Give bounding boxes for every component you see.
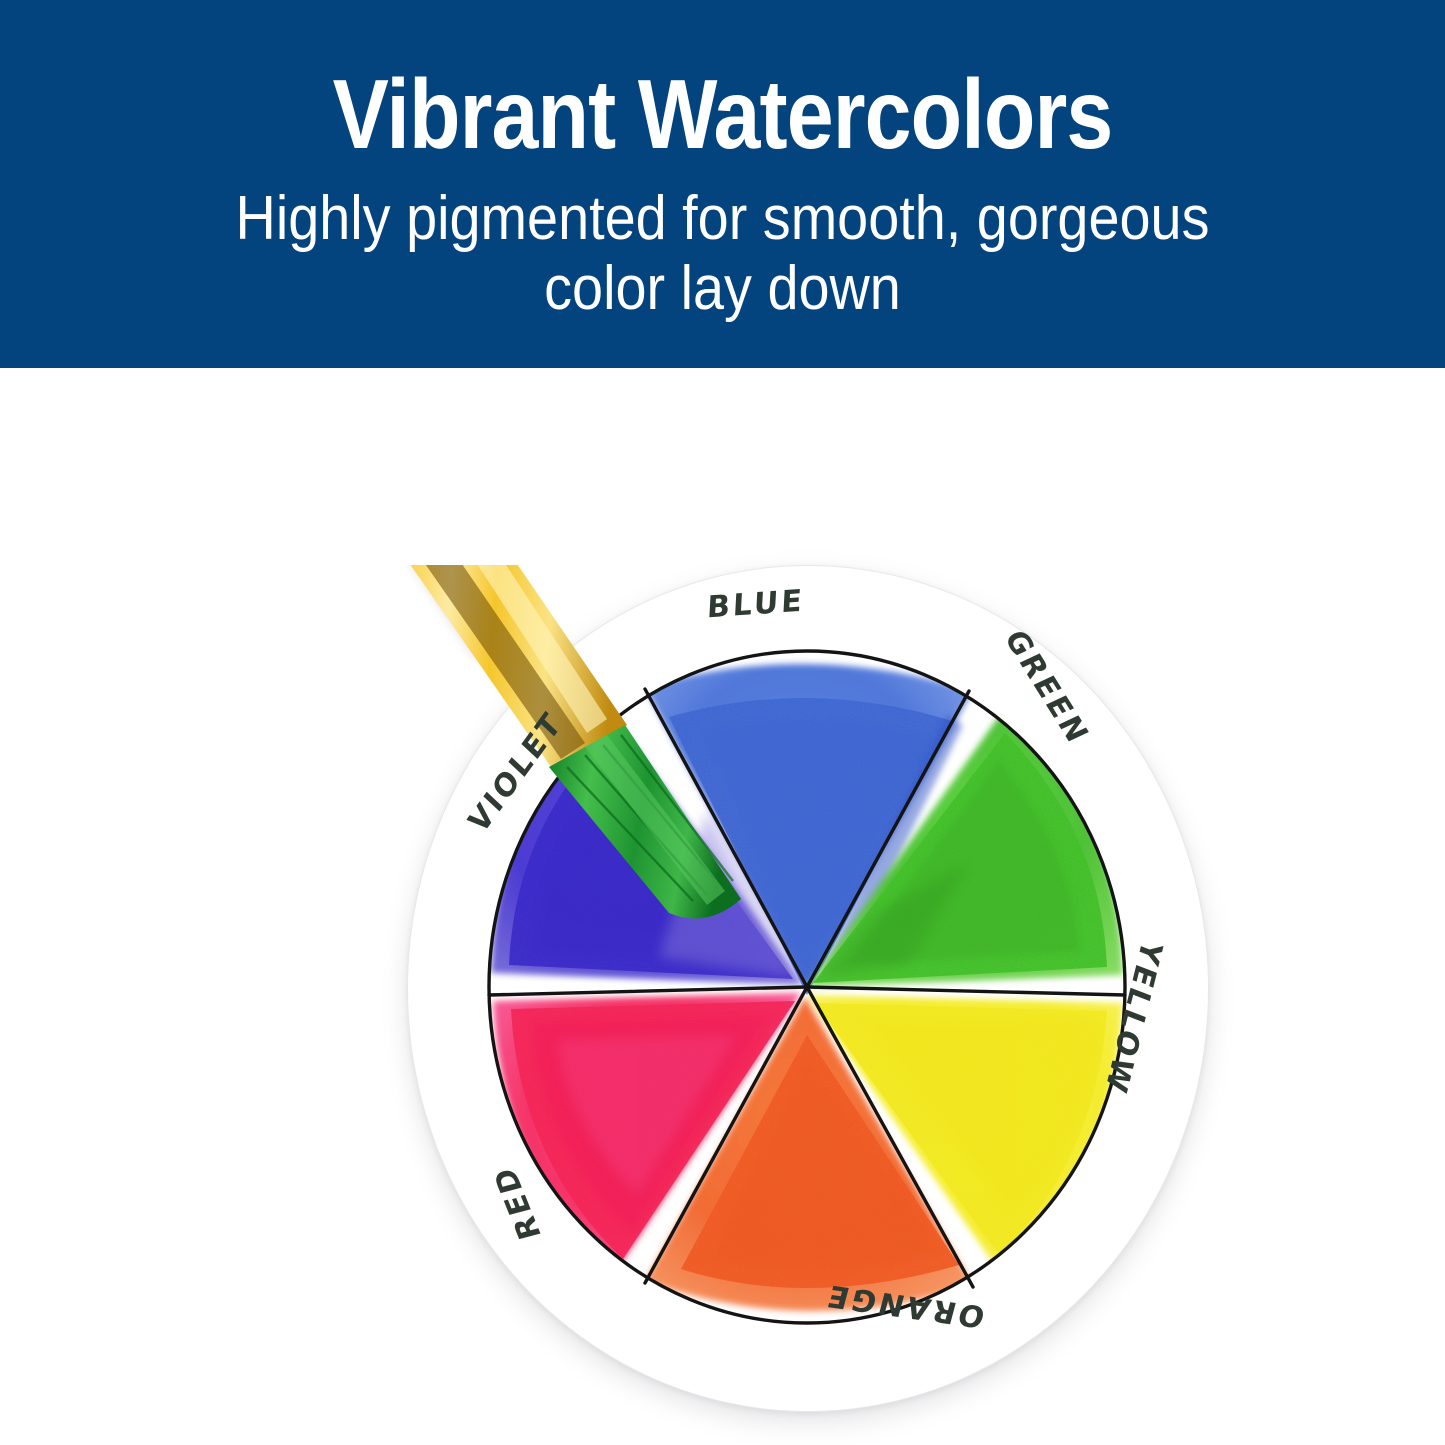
page-subtitle: Highly pigmented for smooth, gorgeous co… bbox=[72, 184, 1373, 324]
header-banner: Vibrant Watercolors Highly pigmented for… bbox=[0, 0, 1445, 368]
product-feature-image: Vibrant Watercolors Highly pigmented for… bbox=[0, 0, 1445, 1445]
product-photo: BLUE GREEN YELLOW ORANGE RED VIOLET bbox=[0, 368, 1445, 1445]
color-wheel-diagram bbox=[407, 565, 1207, 1410]
page-title: Vibrant Watercolors bbox=[101, 62, 1344, 166]
color-wheel: BLUE GREEN YELLOW ORANGE RED VIOLET bbox=[407, 565, 1207, 1410]
subtitle-line-1: Highly pigmented for smooth, gorgeous bbox=[236, 184, 1210, 253]
subtitle-line-2: color lay down bbox=[72, 254, 1373, 324]
wheel-label-blue: BLUE bbox=[706, 583, 805, 625]
divider-red-violet bbox=[489, 987, 807, 995]
divider-green-yellow bbox=[807, 987, 1125, 995]
